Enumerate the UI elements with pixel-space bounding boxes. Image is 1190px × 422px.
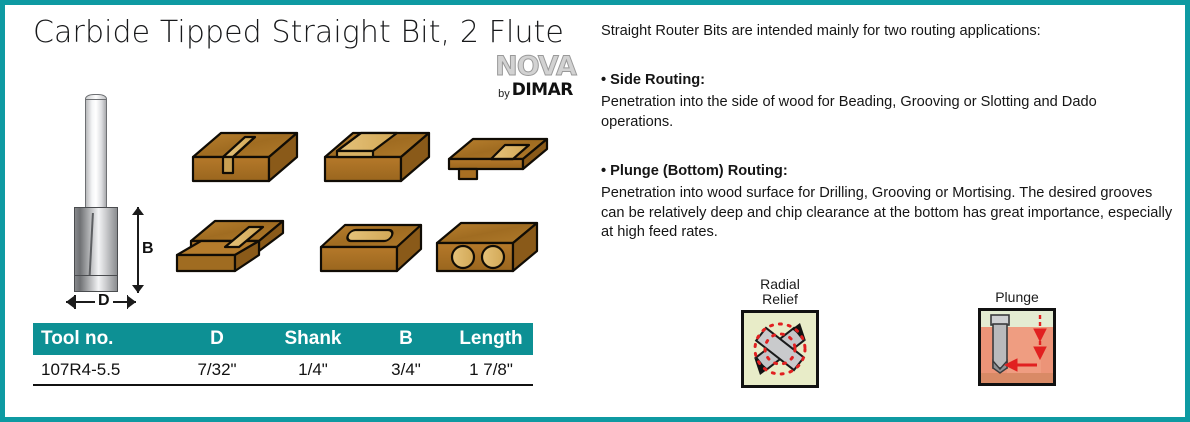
dimension-d-tick-left bbox=[74, 295, 76, 309]
plunge-image bbox=[978, 308, 1056, 386]
cell-length: 1 7/8" bbox=[449, 360, 533, 380]
nova-by-dimar-logo: NOVA by DIMAR bbox=[483, 53, 588, 113]
page-title: Carbide Tipped Straight Bit, 2 Flute bbox=[33, 15, 513, 50]
wood-sample-groove-through bbox=[185, 117, 305, 191]
radial-relief-caption: Radial Relief bbox=[725, 277, 835, 307]
side-routing-body: Penetration into the side of wood for Be… bbox=[601, 93, 1171, 132]
table-row: 107R4-5.5 7/32" 1/4" 3/4" 1 7/8" bbox=[33, 355, 533, 386]
right-panel: Straight Router Bits are intended mainly… bbox=[593, 5, 1190, 417]
dimension-b-arrow-bottom bbox=[132, 285, 144, 293]
wood-sample-tongue-and-groove bbox=[443, 125, 559, 191]
dimension-b-line bbox=[137, 207, 139, 293]
plunge-caption-line1: Plunge bbox=[962, 290, 1072, 305]
dimension-d: D bbox=[66, 294, 136, 316]
cell-d: 7/32" bbox=[171, 360, 263, 380]
wood-sample-dado-slot bbox=[317, 117, 437, 191]
radial-relief-caption-line2: Relief bbox=[725, 292, 835, 307]
radial-relief-image bbox=[741, 310, 819, 388]
column-header-shank: Shank bbox=[263, 328, 363, 350]
bit-shank bbox=[85, 99, 107, 209]
logo-brand-text: NOVA bbox=[483, 53, 588, 81]
product-spec-sheet: Carbide Tipped Straight Bit, 2 Flute NOV… bbox=[0, 0, 1190, 422]
plunge-diagram: Plunge bbox=[962, 290, 1072, 386]
specifications-table: Tool no. D Shank B Length 107R4-5.5 7/32… bbox=[33, 323, 533, 386]
dimension-b-arrow-top bbox=[132, 207, 144, 215]
column-header-length: Length bbox=[449, 328, 533, 350]
plunge-routing-heading: • Plunge (Bottom) Routing: bbox=[601, 162, 1181, 182]
column-header-d: D bbox=[171, 328, 263, 350]
wood-sample-mortise-slot bbox=[313, 213, 431, 281]
table-header-row: Tool no. D Shank B Length bbox=[33, 323, 533, 355]
dimension-d-arrow-left bbox=[66, 296, 74, 308]
cell-tool-no: 107R4-5.5 bbox=[33, 360, 171, 380]
cell-b: 3/4" bbox=[363, 360, 449, 380]
wood-sample-rabbet-step bbox=[171, 211, 295, 281]
router-bit-drawing: B D bbox=[60, 93, 175, 298]
plunge-caption: Plunge bbox=[962, 290, 1072, 305]
column-header-tool-no: Tool no. bbox=[33, 328, 171, 350]
cell-shank: 1/4" bbox=[263, 360, 363, 380]
radial-relief-caption-line1: Radial bbox=[725, 277, 835, 292]
column-header-b: B bbox=[363, 328, 449, 350]
plunge-routing-body: Penetration into wood surface for Drilli… bbox=[601, 184, 1173, 243]
intro-paragraph: Straight Router Bits are intended mainly… bbox=[601, 22, 1181, 42]
dimension-d-arrow-right bbox=[128, 296, 136, 308]
left-panel: Carbide Tipped Straight Bit, 2 Flute NOV… bbox=[5, 5, 590, 417]
logo-by-row: by DIMAR bbox=[483, 82, 588, 100]
dimension-b-label: B bbox=[142, 240, 154, 258]
dimension-d-label: D bbox=[95, 292, 113, 310]
dimension-b: B bbox=[126, 207, 150, 293]
radial-relief-diagram: Radial Relief bbox=[725, 277, 835, 388]
side-routing-heading: • Side Routing: bbox=[601, 71, 1181, 91]
wood-sample-drilled-holes bbox=[429, 213, 547, 281]
logo-maker-text: DIMAR bbox=[512, 80, 573, 100]
logo-maker-wrap: DIMAR bbox=[512, 82, 573, 100]
logo-by-text: by bbox=[498, 88, 510, 100]
